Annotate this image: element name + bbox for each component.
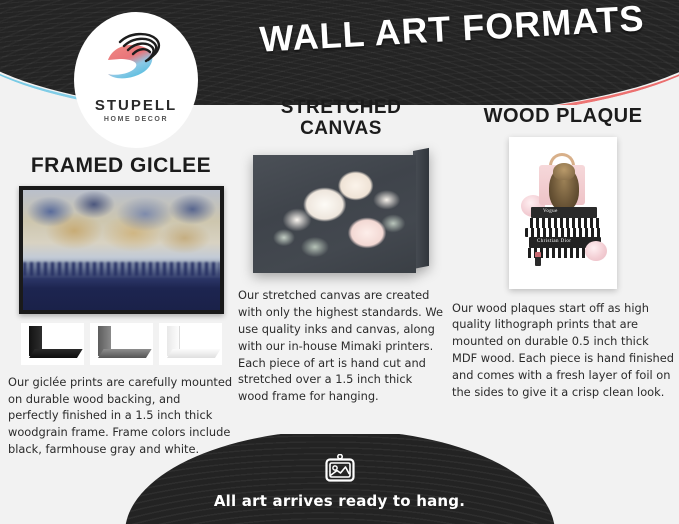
book-stack-item xyxy=(531,207,597,218)
footer-tagline: All art arrives ready to hang. xyxy=(0,492,679,510)
yorkie-dog-fashion-books-artwork: Vogue Christian Dior xyxy=(509,137,617,289)
yorkie-dog-icon xyxy=(549,167,579,211)
stretched-canvas-image xyxy=(253,148,429,276)
white-floral-canvas-artwork xyxy=(253,155,416,273)
format-card-stretched-canvas: STRETCHED CANVAS Our stretched canvas ar… xyxy=(238,98,444,405)
format-card-wood-plaque: WOOD PLAQUE Vogue Christian Dior Our woo… xyxy=(452,106,674,401)
framed-giclee-image xyxy=(19,186,224,314)
logo-brand-name: STUPELL xyxy=(95,97,177,114)
frame-sample-white xyxy=(159,323,222,365)
book-label-dior: Christian Dior xyxy=(537,239,571,244)
stupell-swoosh-icon xyxy=(100,26,172,94)
lipstick-icon xyxy=(535,252,541,266)
wood-plaque-description: Our wood plaques start off as high quali… xyxy=(452,300,674,401)
frame-color-samples xyxy=(8,323,234,365)
stretched-canvas-description: Our stretched canvas are created with on… xyxy=(238,287,444,405)
book-label-vogue: Vogue xyxy=(543,209,558,214)
format-card-framed-giclee: FRAMED GICLEE Our giclée prints are care… xyxy=(8,155,234,458)
book-stack-item xyxy=(527,218,601,228)
logo-tagline: HOME DECOR xyxy=(104,116,168,123)
frame-sample-black xyxy=(21,323,84,365)
stretched-canvas-heading: STRETCHED CANVAS xyxy=(238,98,444,139)
abstract-blue-gold-artwork xyxy=(23,190,220,310)
frame-sample-gray xyxy=(90,323,153,365)
brand-logo: STUPELL HOME DECOR xyxy=(74,12,198,148)
wood-plaque-heading: WOOD PLAQUE xyxy=(452,106,674,128)
flower-right-icon xyxy=(585,241,607,261)
footer-banner: All art arrives ready to hang. xyxy=(0,434,679,524)
book-stack-item xyxy=(525,228,603,237)
framed-giclee-heading: FRAMED GICLEE xyxy=(8,155,234,178)
framed-picture-icon xyxy=(323,454,357,484)
